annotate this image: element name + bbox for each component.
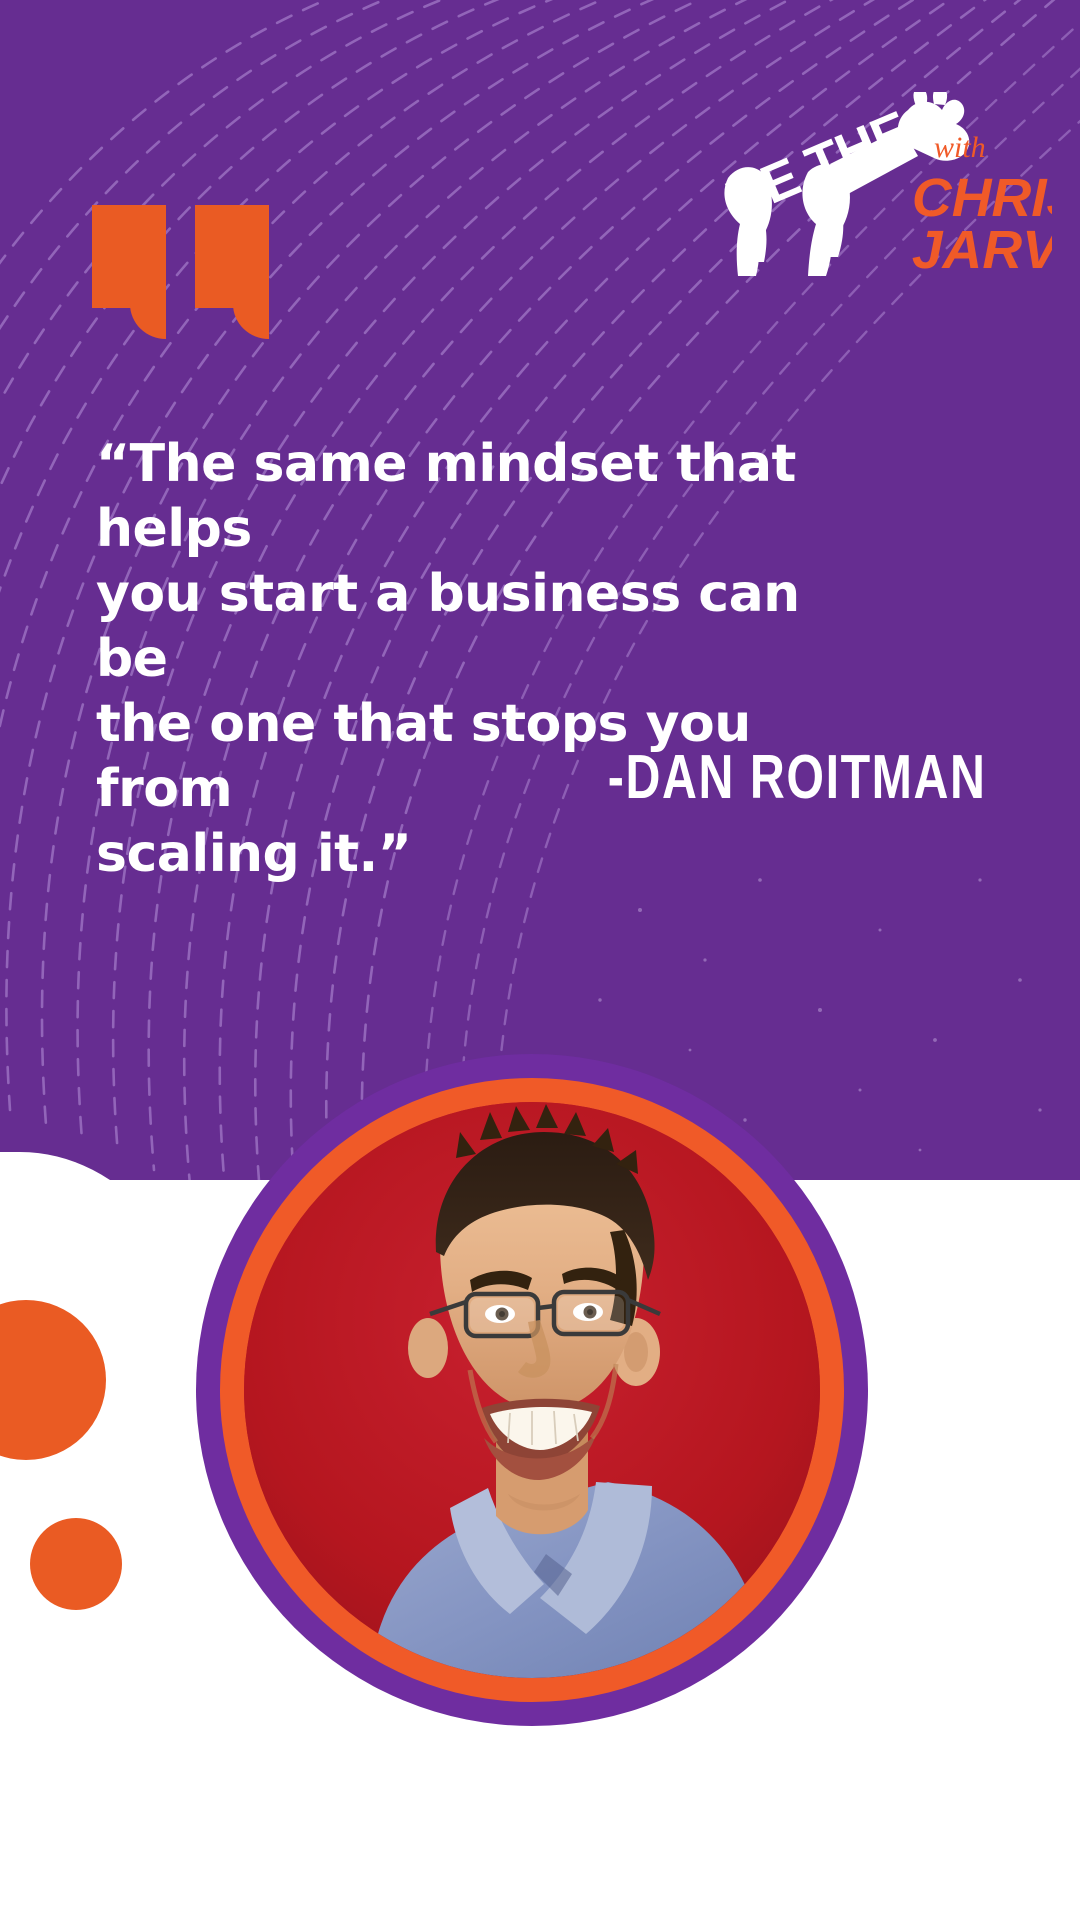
orange-circle-small bbox=[30, 1518, 122, 1610]
host-last-name: JARVIS bbox=[912, 219, 1052, 279]
quote-line: “The same mindset that helps bbox=[96, 432, 826, 562]
quote-attribution: -DAN ROITMAN bbox=[607, 742, 986, 813]
with-label: with bbox=[934, 131, 986, 164]
quote-card: BE THE with CHRIS JARVIS “The same minds… bbox=[0, 0, 1080, 1920]
guest-photo bbox=[244, 1102, 820, 1678]
purple-background-panel: BE THE with CHRIS JARVIS “The same minds… bbox=[0, 0, 1080, 1180]
quote-line: scaling it.” bbox=[96, 822, 826, 887]
avatar bbox=[196, 1054, 868, 1726]
podcast-logo[interactable]: BE THE with CHRIS JARVIS bbox=[712, 92, 1052, 292]
quote-mark-icon bbox=[92, 205, 277, 340]
quote-text: “The same mindset that helps you start a… bbox=[96, 432, 826, 887]
quote-line: you start a business can be bbox=[96, 562, 826, 692]
